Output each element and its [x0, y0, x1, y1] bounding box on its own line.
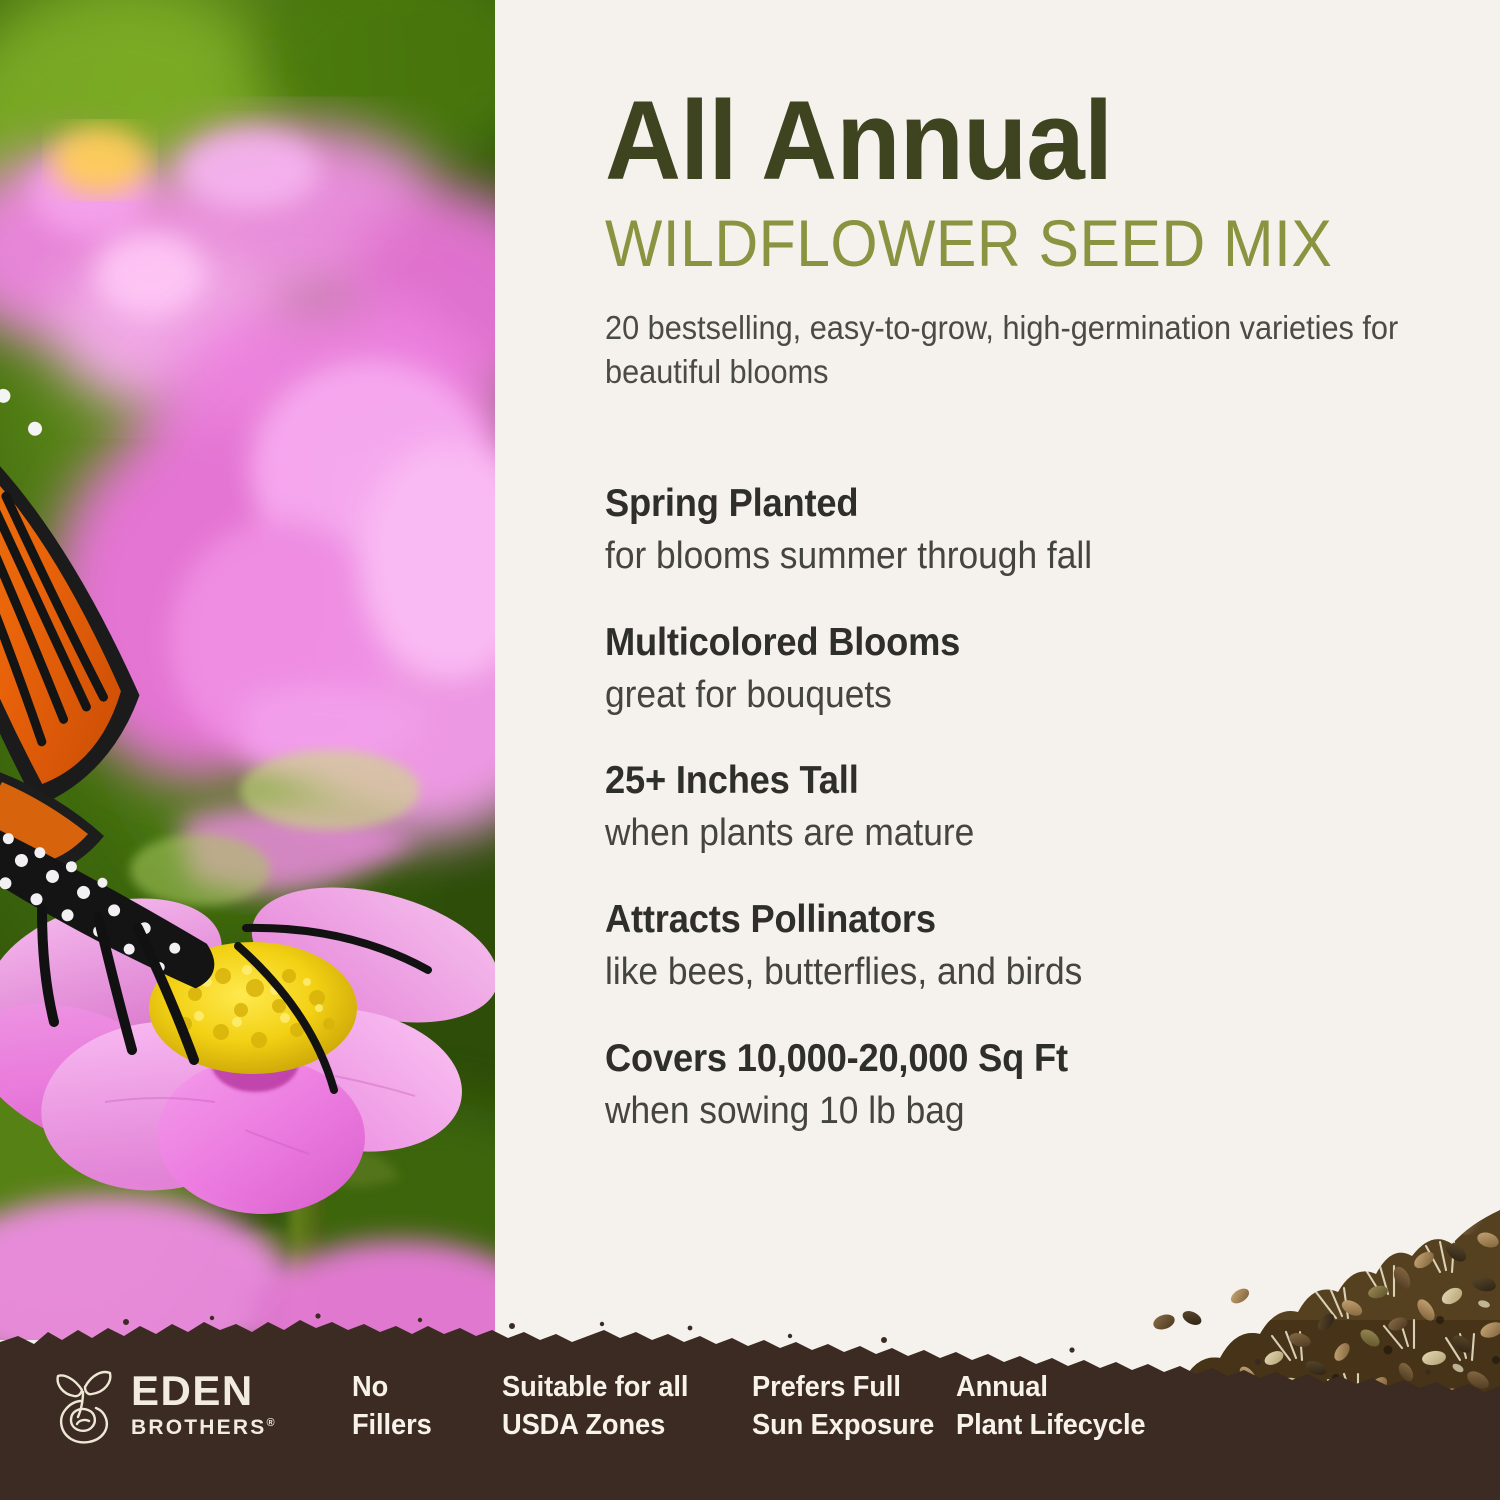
footer-col-line1: Prefers Full: [752, 1368, 934, 1406]
footer-content: EDEN BROTHERS® No Fillers Suitable for a…: [0, 1300, 1500, 1500]
footer-col-line1: Annual: [956, 1368, 1145, 1406]
footer-col-line1: Suitable for all: [502, 1368, 688, 1406]
feature-item: 25+ Inches Tall when plants are mature: [605, 759, 1465, 856]
feature-title: 25+ Inches Tall: [605, 759, 1405, 804]
feature-list: Spring Planted for blooms summer through…: [605, 482, 1465, 1133]
page-tagline: 20 bestselling, easy-to-grow, high-germi…: [605, 306, 1414, 394]
product-photo: [0, 0, 495, 1340]
eden-brothers-logo[interactable]: EDEN BROTHERS®: [52, 1362, 275, 1446]
feature-item: Spring Planted for blooms summer through…: [605, 482, 1465, 579]
feature-subtitle: for blooms summer through fall: [605, 534, 1405, 579]
header-block: All Annual WILDFLOWER SEED MIX 20 bestse…: [605, 88, 1485, 394]
feature-item: Covers 10,000-20,000 Sq Ft when sowing 1…: [605, 1037, 1465, 1134]
logo-eden-text: EDEN: [131, 1370, 275, 1412]
content-panel: All Annual WILDFLOWER SEED MIX 20 bestse…: [495, 0, 1500, 1340]
sprout-seed-icon: [52, 1362, 118, 1446]
feature-subtitle: when sowing 10 lb bag: [605, 1089, 1405, 1134]
registered-trademark-icon: ®: [266, 1417, 274, 1429]
page-subtitle: WILDFLOWER SEED MIX: [605, 210, 1415, 276]
footer-col-line1: No: [352, 1368, 432, 1406]
footer-bar: EDEN BROTHERS® No Fillers Suitable for a…: [0, 1300, 1500, 1500]
footer-col-line2: Sun Exposure: [752, 1406, 934, 1444]
feature-title: Multicolored Blooms: [605, 621, 1405, 666]
feature-subtitle: like bees, butterflies, and birds: [605, 950, 1405, 995]
footer-col-line2: Fillers: [352, 1406, 432, 1444]
feature-subtitle: when plants are mature: [605, 811, 1405, 856]
footer-column-no-fillers: No Fillers: [352, 1368, 432, 1445]
logo-brothers-text: BROTHERS®: [131, 1417, 275, 1438]
feature-title: Attracts Pollinators: [605, 898, 1405, 943]
infographic-canvas: All Annual WILDFLOWER SEED MIX 20 bestse…: [0, 0, 1500, 1500]
feature-item: Multicolored Blooms great for bouquets: [605, 621, 1465, 718]
footer-column-usda-zones: Suitable for all USDA Zones: [502, 1368, 688, 1445]
page-title: All Annual: [605, 88, 1432, 194]
footer-column-plant-lifecycle: Annual Plant Lifecycle: [956, 1368, 1145, 1445]
footer-col-line2: Plant Lifecycle: [956, 1406, 1145, 1444]
footer-feature-columns: No Fillers Suitable for all USDA Zones P…: [352, 1300, 1352, 1500]
feature-item: Attracts Pollinators like bees, butterfl…: [605, 898, 1465, 995]
butterfly-cosmos-illustration: [0, 0, 495, 1340]
logo-wordmark: EDEN BROTHERS®: [131, 1370, 275, 1438]
logo-brothers-label: BROTHERS: [131, 1416, 266, 1439]
feature-subtitle: great for bouquets: [605, 673, 1405, 718]
footer-column-sun-exposure: Prefers Full Sun Exposure: [752, 1368, 934, 1445]
feature-title: Covers 10,000-20,000 Sq Ft: [605, 1037, 1405, 1082]
feature-title: Spring Planted: [605, 482, 1405, 527]
footer-col-line2: USDA Zones: [502, 1406, 688, 1444]
